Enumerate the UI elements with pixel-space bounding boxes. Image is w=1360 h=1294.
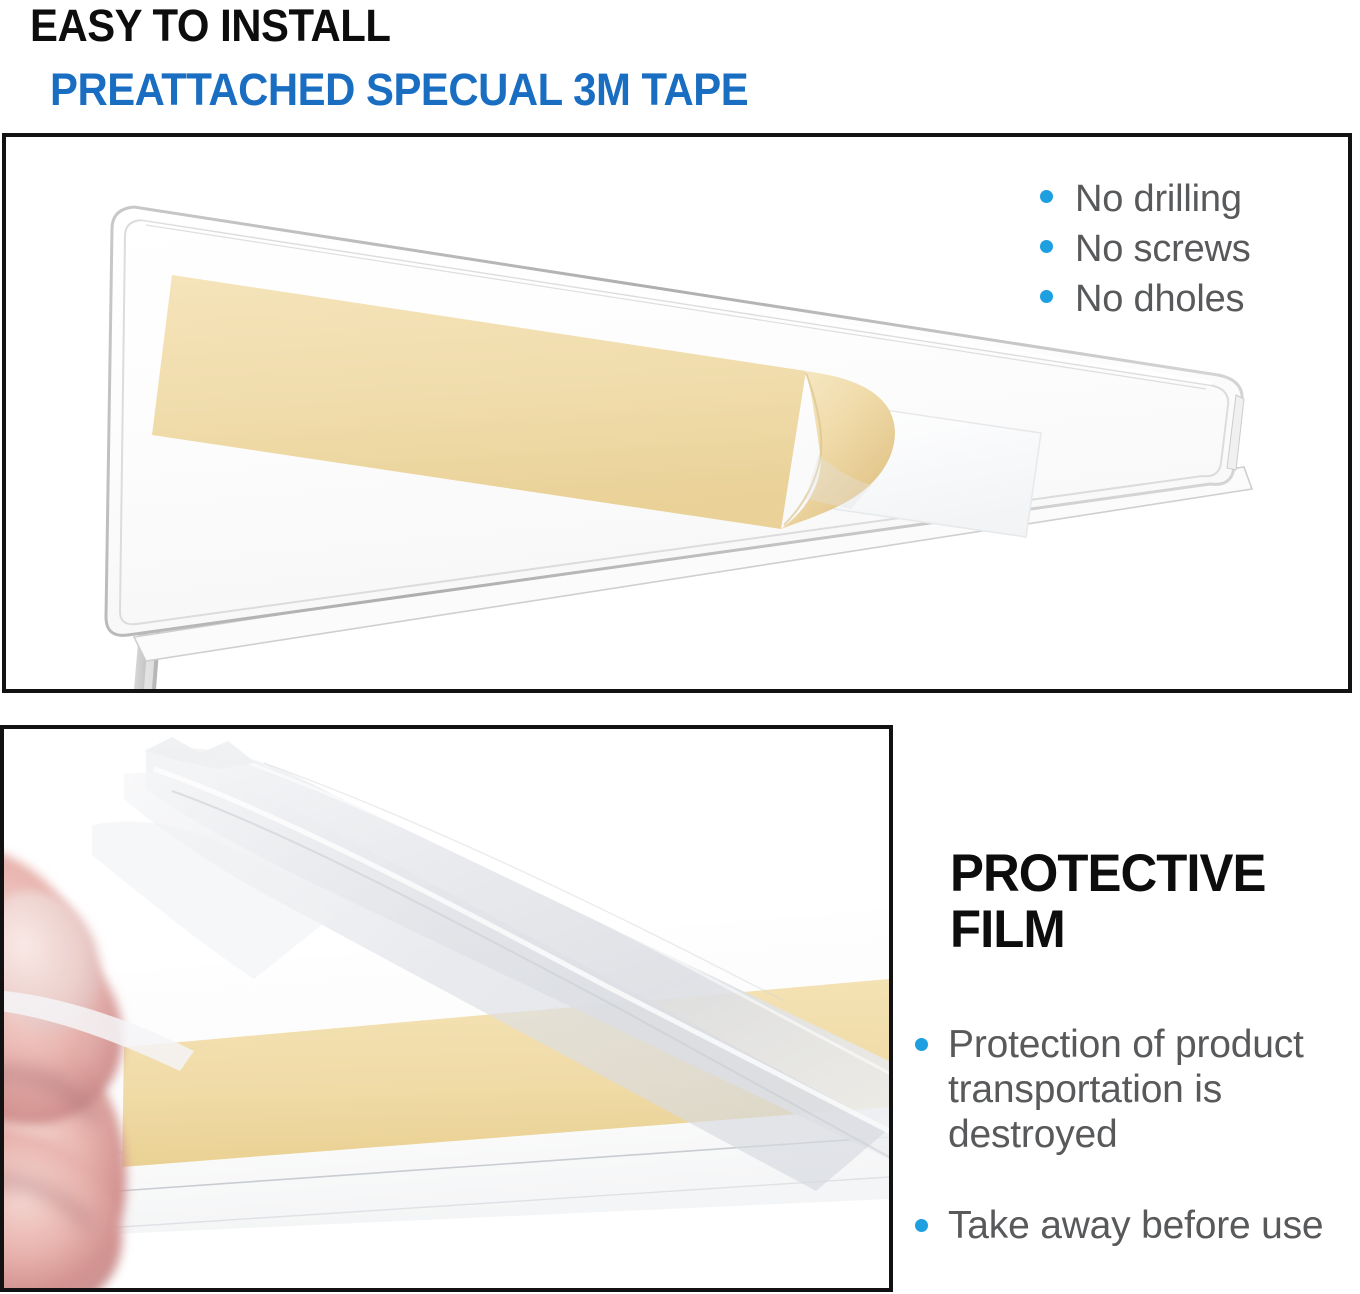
list-item: No dholes [1040, 276, 1340, 322]
film-peel-photo [4, 729, 889, 1288]
install-bullet-list: No drilling No screws No dholes [1040, 176, 1340, 326]
bullet-dot-icon [1040, 240, 1053, 253]
protective-film-title: PROTECTIVE FILM [950, 846, 1344, 958]
film-bullet-list: Protection of product transportation is … [915, 1022, 1355, 1294]
list-item: Protection of product transportation is … [915, 1022, 1355, 1157]
bullet-label: Protection of product transportation is … [948, 1022, 1355, 1157]
protective-film-panel [0, 725, 893, 1292]
list-item: Take away before use [915, 1203, 1355, 1248]
list-item: No drilling [1040, 176, 1340, 222]
page-subtitle-preattached-tape: PREATTACHED SPECUAL 3M TAPE [50, 66, 748, 114]
list-item: No screws [1040, 226, 1340, 272]
film-peel-svg [4, 729, 889, 1288]
bullet-dot-icon [1040, 290, 1053, 303]
page-title-easy-to-install: EASY TO INSTALL [30, 2, 390, 50]
bullet-dot-icon [1040, 190, 1053, 203]
infographic-root: EASY TO INSTALL PREATTACHED SPECUAL 3M T… [0, 0, 1360, 1292]
bullet-label: Take away before use [948, 1203, 1323, 1248]
bullet-label: No drilling [1075, 176, 1242, 222]
bullet-dot-icon [915, 1038, 928, 1051]
bullet-dot-icon [915, 1219, 928, 1232]
bullet-label: No screws [1075, 226, 1251, 272]
bullet-label: No dholes [1075, 276, 1244, 322]
